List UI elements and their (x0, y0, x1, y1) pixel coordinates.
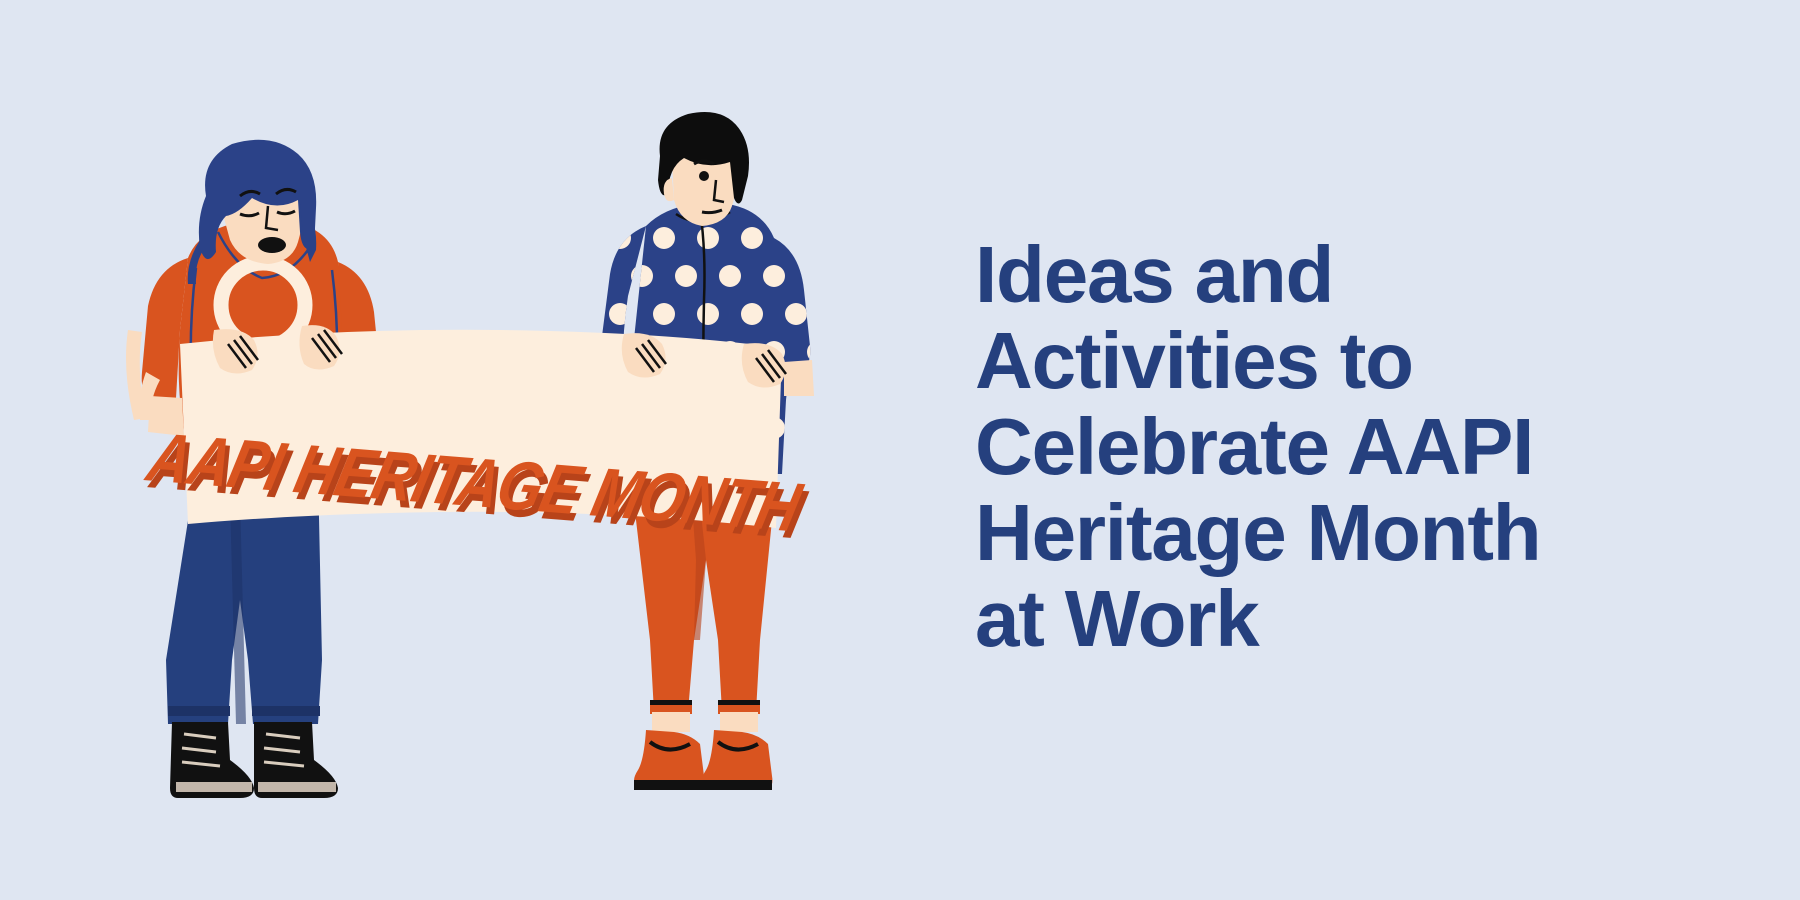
illustration-svg: AAPI HERITAGE MONTH AAPI HERITAGE MONTH (0, 0, 980, 900)
headline-line-5: at Work (975, 576, 1695, 662)
headline-line-1: Ideas and (975, 232, 1695, 318)
headline-line-2: Activities to (975, 318, 1695, 404)
aapi-heritage-month-banner: AAPI HERITAGE MONTH AAPI HERITAGE MONTH … (0, 0, 1800, 900)
left-figure-boots (170, 722, 338, 798)
right-figure-sneakers (634, 730, 772, 790)
headline: Ideas and Activities to Celebrate AAPI H… (975, 232, 1695, 662)
headline-line-3: Celebrate AAPI (975, 404, 1695, 490)
illustration-two-people-holding-sign: AAPI HERITAGE MONTH AAPI HERITAGE MONTH (0, 0, 980, 900)
headline-line-4: Heritage Month (975, 490, 1695, 576)
